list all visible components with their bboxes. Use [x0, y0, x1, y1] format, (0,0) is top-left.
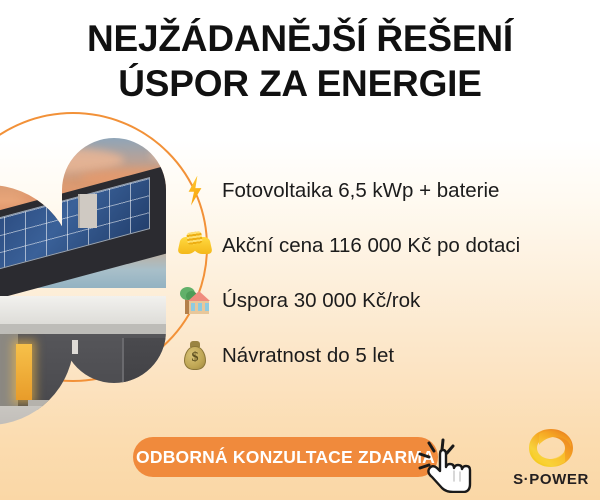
lit-entrance-door: [16, 344, 32, 400]
cloud: [62, 148, 124, 172]
list-item: Úspora 30 000 Kč/rok: [178, 273, 578, 328]
cta-button-label: ODBORNÁ KONZULTACE ZDARMA: [133, 437, 438, 477]
facade-band-shadow: [62, 324, 166, 334]
garage-door: [122, 338, 166, 383]
headline-line-1: NEJŽÁDANĚJŠÍ ŘEŠENÍ: [0, 16, 600, 61]
gravel-driveway: [0, 406, 74, 425]
list-item-label: Návratnost do 5 let: [222, 344, 394, 368]
chimney: [78, 194, 97, 228]
list-item: Akční cena 116 000 Kč po dotaci: [178, 218, 578, 273]
feature-list: Fotovoltaika 6,5 kWp + baterie Akční cen…: [178, 163, 578, 383]
headline: NEJŽÁDANĚJŠÍ ŘEŠENÍ ÚSPOR ZA ENERGIE: [0, 16, 600, 106]
cta-button[interactable]: ODBORNÁ KONZULTACE ZDARMA: [133, 437, 438, 477]
handshake-icon: [178, 229, 212, 263]
click-hand-cursor-icon: [415, 437, 477, 493]
list-item: Fotovoltaika 6,5 kWp + baterie: [178, 163, 578, 218]
money-bag-icon: $: [178, 339, 212, 373]
photo-capsule-right: [62, 138, 166, 383]
logo-wordmark: S·POWER: [508, 471, 594, 488]
headline-line-2: ÚSPOR ZA ENERGIE: [0, 61, 600, 106]
list-item-label: Úspora 30 000 Kč/rok: [222, 289, 420, 313]
lightning-bolt-icon: [178, 174, 212, 208]
solar-energy-ad-banner: NEJŽÁDANĚJŠÍ ŘEŠENÍ ÚSPOR ZA ENERGIE Fot…: [0, 0, 600, 500]
list-item-label: Fotovoltaika 6,5 kWp + baterie: [222, 179, 499, 203]
list-item: $ Návratnost do 5 let: [178, 328, 578, 383]
house-with-garden-icon: [178, 284, 212, 318]
wall-lamp: [72, 340, 78, 354]
house-solar-photo: [62, 138, 166, 383]
company-logo: S·POWER: [508, 426, 594, 492]
facade-band: [62, 296, 166, 326]
list-item-label: Akční cena 116 000 Kč po dotaci: [222, 234, 520, 258]
cloud: [150, 146, 166, 164]
spower-ring-logo-icon: [525, 426, 577, 470]
